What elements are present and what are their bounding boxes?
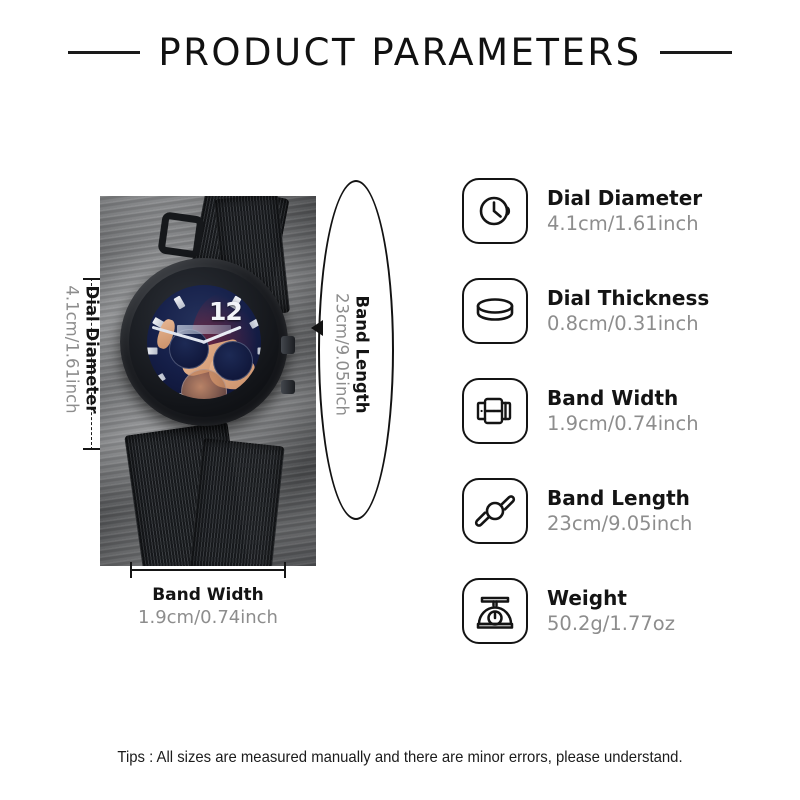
spec-list: Dial Diameter 4.1cm/1.61inch Dial Thickn… [462, 170, 792, 670]
spec-text: Band Width 1.9cm/0.74inch [547, 387, 699, 435]
title-rule-left [68, 51, 140, 54]
spec-value: 50.2g/1.77oz [547, 612, 675, 635]
spec-label: Weight [547, 587, 675, 611]
spec-row-dial-diameter: Dial Diameter 4.1cm/1.61inch [462, 170, 792, 252]
band-width-measure-bar [100, 562, 316, 578]
dial-diameter-callout-label: Dial Diameter [83, 286, 102, 414]
dial-index [258, 348, 262, 355]
spec-row-weight: Weight 50.2g/1.77oz [462, 570, 792, 652]
band-width-measure-line [130, 569, 286, 571]
band-width-callout-value: 1.9cm/0.74inch [100, 607, 316, 628]
watch-lug [157, 211, 204, 258]
page-title-row: PRODUCT PARAMETERS [0, 24, 800, 80]
band-length-callout: Band Length 23cm/9.05inch [318, 180, 394, 520]
kitchen-scale-icon [462, 578, 528, 644]
watch-bezel: 12 [129, 267, 279, 417]
band-width-callout: Band Width 1.9cm/0.74inch [100, 562, 316, 628]
dial-diameter-callout-labels: Dial Diameter 4.1cm/1.61inch [63, 264, 102, 436]
dial-index [173, 296, 185, 310]
band-length-callout-value: 23cm/9.05inch [333, 293, 352, 416]
spec-text: Dial Diameter 4.1cm/1.61inch [547, 187, 702, 235]
spec-label: Band Width [547, 387, 699, 411]
spec-text: Dial Thickness 0.8cm/0.31inch [547, 287, 709, 335]
watch-dial: 12 [147, 285, 261, 399]
spec-label: Band Length [547, 487, 692, 511]
band-length-callout-label: Band Length [353, 296, 372, 414]
dial-hour-marker-12: 12 [209, 297, 242, 326]
spec-value: 23cm/9.05inch [547, 512, 692, 535]
dial-index [147, 348, 158, 355]
mesh-band-lower-inner [189, 438, 284, 566]
spec-text: Band Length 23cm/9.05inch [547, 487, 692, 535]
dial-index [152, 373, 166, 385]
spec-label: Dial Thickness [547, 287, 709, 311]
watch-crown [281, 336, 295, 354]
band-width-callout-label: Band Width [100, 585, 316, 605]
arrowhead-icon [311, 320, 323, 336]
spec-label: Dial Diameter [547, 187, 702, 211]
spec-row-band-length: Band Length 23cm/9.05inch [462, 470, 792, 552]
disc-thickness-icon [462, 278, 528, 344]
spec-value: 0.8cm/0.31inch [547, 312, 709, 335]
watch-strap-icon [462, 478, 528, 544]
page-title: PRODUCT PARAMETERS [158, 31, 641, 74]
buckle-clasp-icon [462, 378, 528, 444]
tips-footer: Tips : All sizes are measured manually a… [28, 749, 772, 767]
product-photo-block: 12 Dial Diameter 4.1cm/1.61inch Ban [0, 150, 420, 650]
measure-cap-left [130, 562, 132, 578]
measure-cap-bottom [83, 448, 100, 450]
watch-pusher [281, 380, 295, 394]
spec-text: Weight 50.2g/1.77oz [547, 587, 675, 635]
dial-diameter-callout-value: 4.1cm/1.61inch [63, 285, 82, 413]
spec-row-band-width: Band Width 1.9cm/0.74inch [462, 370, 792, 452]
spec-row-dial-thickness: Dial Thickness 0.8cm/0.31inch [462, 270, 792, 352]
dial-diameter-callout: Dial Diameter 4.1cm/1.61inch [44, 278, 96, 450]
spec-value: 4.1cm/1.61inch [547, 212, 702, 235]
product-photo: 12 [100, 196, 316, 566]
measure-cap-right [284, 562, 286, 578]
dial-index [229, 393, 241, 399]
watch-dial-icon [462, 178, 528, 244]
watch-case: 12 [120, 258, 288, 426]
title-rule-right [660, 51, 732, 54]
product-parameters-page: PRODUCT PARAMETERS [0, 0, 800, 800]
band-length-callout-labels: Band Length 23cm/9.05inch [333, 205, 372, 505]
spec-value: 1.9cm/0.74inch [547, 412, 699, 435]
